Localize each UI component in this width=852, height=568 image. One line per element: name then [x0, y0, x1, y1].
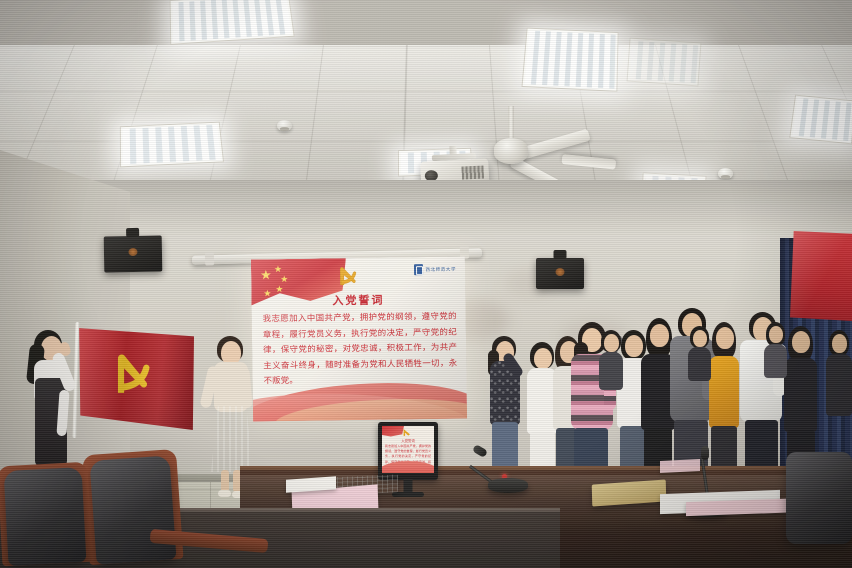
executive-leather-chair[interactable] — [82, 449, 186, 568]
monitor-base — [392, 492, 424, 497]
audience-member — [688, 326, 712, 380]
audience-member — [598, 330, 624, 390]
presentation-slide: ★★ ★★ ★ 西北师范大学 入党誓词 我志愿加入中国共产党，拥护党的纲领，遵守… — [251, 257, 467, 422]
desktop-monitor: 入党誓词 我志愿加入中国共产党，拥护党的纲领，遵守党的章程，履行党员义务，执行党… — [378, 422, 438, 480]
university-logo-text: 西北师范大学 — [425, 266, 456, 272]
projection-screen: ★★ ★★ ★ 西北师范大学 入党誓词 我志愿加入中国共产党，拥护党的纲领，遵守… — [251, 257, 467, 422]
monitor-screen: 入党誓词 我志愿加入中国共产党，拥护党的纲领，遵守党的章程，履行党员义务，执行党… — [382, 426, 434, 473]
smoke-detector-icon — [277, 120, 292, 131]
audience-member — [484, 336, 526, 486]
ceiling-light-panel — [521, 28, 618, 92]
university-logo: 西北师范大学 — [414, 264, 456, 276]
audience-member — [764, 322, 788, 376]
wall-speaker — [104, 235, 163, 272]
microphone-head — [701, 446, 709, 460]
monitor-stand — [404, 479, 413, 493]
pleated-skirt — [211, 406, 253, 472]
hammer-and-sickle-icon — [108, 348, 154, 398]
red-banner — [790, 231, 852, 321]
pink-document — [660, 459, 700, 473]
cpc-hammer-sickle-emblem — [333, 263, 363, 289]
gooseneck-microphone — [478, 468, 548, 508]
wall-speaker — [536, 258, 584, 289]
executive-leather-chair[interactable] — [0, 462, 95, 568]
ceiling-light-panel — [170, 0, 295, 45]
microphone-base — [488, 478, 528, 493]
ceiling-light-panel — [627, 38, 702, 87]
audience-member — [826, 330, 852, 420]
communist-party-flag — [78, 326, 194, 430]
photo-scene: ★★ ★★ ★ 西北师范大学 入党誓词 我志愿加入中国共产党，拥护党的纲领，遵守… — [0, 0, 852, 568]
smoke-detector-icon — [718, 168, 733, 179]
ceiling-light-panel — [120, 122, 224, 168]
slide-wave-graphic — [252, 361, 467, 422]
slide-title: 入党誓词 — [251, 291, 465, 310]
ceiling-light-panel — [789, 95, 852, 145]
logo-mark-icon — [414, 264, 423, 275]
fan-blade — [561, 154, 616, 170]
executive-leather-chair[interactable] — [786, 452, 852, 548]
